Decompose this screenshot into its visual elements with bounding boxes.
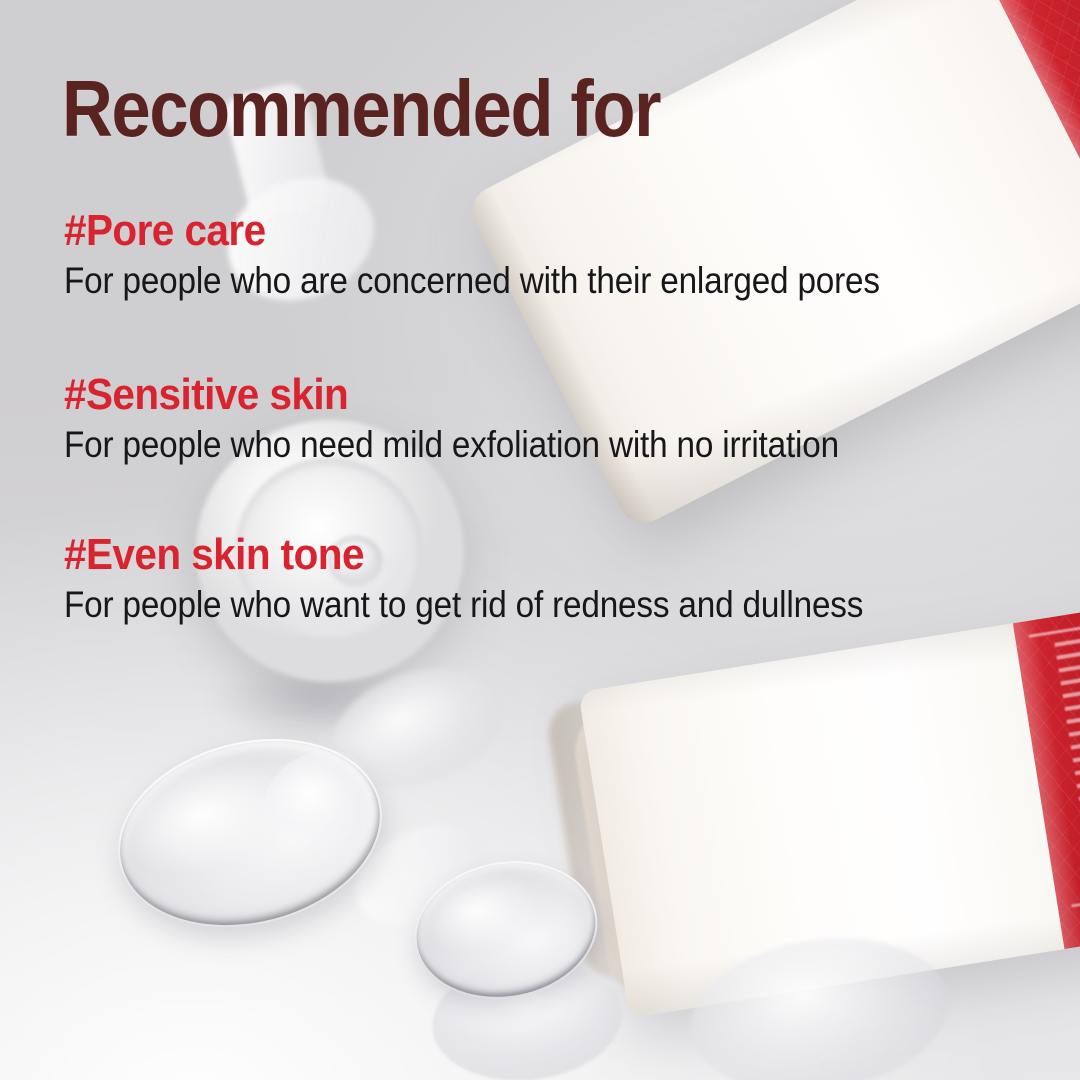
benefit-block-sensitive-skin: #Sensitive skin For people who need mild… — [64, 370, 1024, 468]
text-layer: Recommended for #Pore care For people wh… — [0, 0, 1080, 1080]
benefit-tag: #Pore care — [64, 206, 947, 255]
page-title: Recommended for — [62, 68, 660, 150]
benefit-block-pore-care: #Pore care For people who are concerned … — [64, 206, 1024, 304]
product-marketing-image: Recommended for #Pore care For people wh… — [0, 0, 1080, 1080]
benefit-description: For people who are concerned with their … — [64, 259, 928, 303]
benefit-description: For people who want to get rid of rednes… — [64, 583, 928, 627]
benefit-tag: #Sensitive skin — [64, 370, 947, 419]
benefit-block-even-skin-tone: #Even skin tone For people who want to g… — [64, 530, 1024, 628]
benefit-description: For people who need mild exfoliation wit… — [64, 423, 928, 467]
benefit-tag: #Even skin tone — [64, 530, 947, 579]
